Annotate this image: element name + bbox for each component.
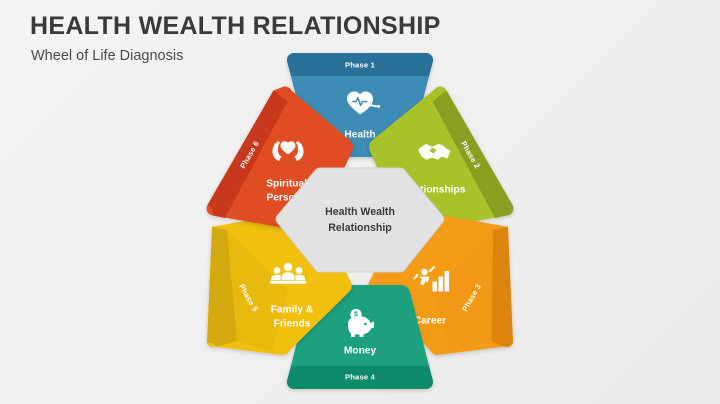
segment-health-phase: Phase 1: [345, 61, 376, 70]
segment-family-friends-label-2: Friends: [274, 319, 311, 330]
segment-career-band: [492, 227, 514, 347]
segment-money-label: Money: [344, 346, 377, 357]
wheel-of-life-diagram: Phase 1 Health Phase 2 Relationships: [160, 38, 560, 404]
page-title: HEALTH WEALTH RELATIONSHIP: [30, 12, 441, 41]
center-label-line1: Health Wealth: [325, 206, 395, 218]
center-label-line2: Relationship: [328, 222, 392, 234]
wheel-svg: Phase 1 Health Phase 2 Relationships: [160, 38, 560, 404]
segment-career-label: Career: [414, 316, 446, 327]
segment-family-friends-label-1: Family &: [271, 305, 314, 316]
segment-health-label: Health: [344, 130, 375, 141]
segment-money-phase: Phase 4: [345, 373, 376, 382]
slide-canvas: HEALTH WEALTH RELATIONSHIP Wheel of Life…: [0, 0, 720, 404]
